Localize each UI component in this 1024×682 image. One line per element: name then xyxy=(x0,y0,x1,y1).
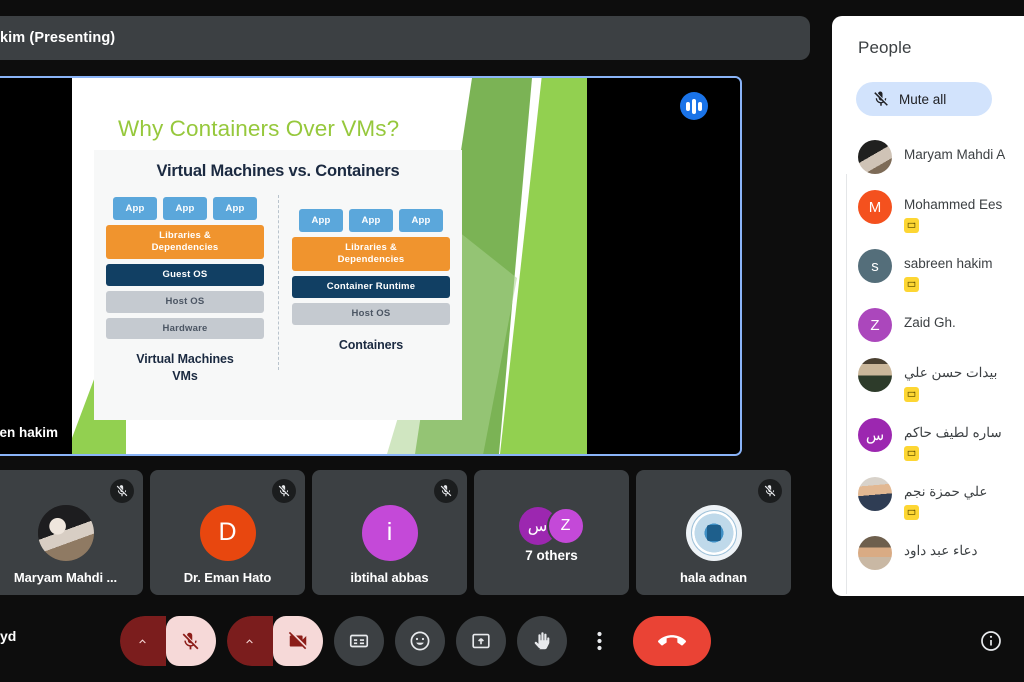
mic-off-button[interactable] xyxy=(166,616,216,666)
vm-column: App App App Libraries &Dependencies Gues… xyxy=(106,197,278,385)
container-column-label: Containers xyxy=(339,337,403,354)
container-app-row: App App App xyxy=(292,209,450,232)
vm-app-box: App xyxy=(163,197,207,220)
avatar xyxy=(686,505,742,561)
vm-app-row: App App App xyxy=(106,197,264,220)
avatar: س xyxy=(858,418,892,452)
avatar xyxy=(38,505,94,561)
list-item[interactable]: بيدات حسن علي xyxy=(832,350,1024,409)
mic-off-icon xyxy=(758,479,782,503)
list-item[interactable]: س ساره لطيف حاكم xyxy=(832,410,1024,469)
list-item[interactable]: دعاء عبد داود xyxy=(832,528,1024,578)
vm-host-os-bar: Host OS xyxy=(106,291,264,313)
mic-off-icon xyxy=(872,90,890,108)
others-tile[interactable]: س Z 7 others xyxy=(474,470,629,595)
vm-guest-os-bar: Guest OS xyxy=(106,264,264,286)
list-item[interactable]: s sabreen hakim xyxy=(832,241,1024,300)
diagram-title: Virtual Machines vs. Containers xyxy=(94,162,462,181)
avatar xyxy=(858,358,892,392)
list-item[interactable]: Maryam Mahdi A xyxy=(832,132,1024,182)
control-bar xyxy=(0,600,830,682)
vm-libraries-bar: Libraries &Dependencies xyxy=(106,225,264,259)
mic-control-group[interactable] xyxy=(120,616,216,666)
participant-name: ibtihal abbas xyxy=(312,570,467,585)
others-count-label: 7 others xyxy=(474,548,629,563)
shared-screen-stage[interactable]: Why Containers Over VMs? Virtual Machine… xyxy=(0,76,742,456)
info-button[interactable] xyxy=(974,624,1008,658)
participant-filmstrip: Maryam Mahdi ... D Dr. Eman Hato i ibtih… xyxy=(0,470,813,595)
participant-tile[interactable]: i ibtihal abbas xyxy=(312,470,467,595)
container-app-box: App xyxy=(399,209,443,232)
participant-name: علي حمزة نجم xyxy=(904,477,987,501)
container-host-os-bar: Host OS xyxy=(292,303,450,325)
participant-name: دعاء عبد داود xyxy=(904,536,978,560)
mic-options-chevron-icon[interactable] xyxy=(120,616,166,666)
captions-button[interactable] xyxy=(334,616,384,666)
raise-hand-button[interactable] xyxy=(517,616,567,666)
vm-label-line2: VMs xyxy=(136,368,234,385)
vm-label-line1: Virtual Machines xyxy=(136,351,234,368)
avatar xyxy=(858,140,892,174)
end-call-button[interactable] xyxy=(633,616,711,666)
avatar xyxy=(858,536,892,570)
container-column: App App App Libraries &Dependencies Cont… xyxy=(278,197,450,385)
mic-off-icon xyxy=(110,479,134,503)
presenting-label: kim (Presenting) xyxy=(0,30,115,46)
list-item[interactable]: M Mohammed Ees xyxy=(832,182,1024,241)
presenting-badge-icon xyxy=(904,387,919,402)
participant-name: ساره لطيف حاكم xyxy=(904,418,1002,442)
container-app-box: App xyxy=(349,209,393,232)
stage-background: Why Containers Over VMs? Virtual Machine… xyxy=(0,78,740,454)
participant-name: Mohammed Ees xyxy=(904,190,1002,214)
container-runtime-bar: Container Runtime xyxy=(292,276,450,298)
diagram-columns: App App App Libraries &Dependencies Gues… xyxy=(94,197,462,385)
camera-control-group[interactable] xyxy=(227,616,323,666)
avatar: Z xyxy=(858,308,892,342)
mute-all-label: Mute all xyxy=(899,92,946,107)
vm-column-label: Virtual Machines VMs xyxy=(136,351,234,385)
emoji-reactions-button[interactable] xyxy=(395,616,445,666)
speaking-audio-icon xyxy=(680,92,708,120)
vm-hardware-bar: Hardware xyxy=(106,318,264,340)
people-panel: People Mute all Maryam Mahdi A M Mohamme… xyxy=(832,16,1024,596)
slide-diagram: Virtual Machines vs. Containers App App … xyxy=(94,150,462,420)
avatar: M xyxy=(858,190,892,224)
diagram-divider xyxy=(278,195,279,370)
participant-name: بيدات حسن علي xyxy=(904,358,997,382)
presentation-slide: Why Containers Over VMs? Virtual Machine… xyxy=(72,78,587,454)
container-libraries-bar: Libraries &Dependencies xyxy=(292,237,450,271)
mute-all-button[interactable]: Mute all xyxy=(856,82,992,116)
presenting-badge-icon xyxy=(904,277,919,292)
presenting-banner: kim (Presenting) xyxy=(0,16,810,60)
container-app-box: App xyxy=(299,209,343,232)
participant-name: sabreen hakim xyxy=(904,249,993,273)
slide-title: Why Containers Over VMs? xyxy=(118,116,399,142)
camera-off-button[interactable] xyxy=(273,616,323,666)
mic-off-icon xyxy=(272,479,296,503)
participant-name: Maryam Mahdi ... xyxy=(0,570,143,585)
mic-off-icon xyxy=(434,479,458,503)
participant-name: hala adnan xyxy=(636,570,791,585)
participant-tile[interactable]: Maryam Mahdi ... xyxy=(0,470,143,595)
avatar: Z xyxy=(547,507,585,545)
presenting-badge-icon xyxy=(904,218,919,233)
avatar: s xyxy=(858,249,892,283)
present-screen-button[interactable] xyxy=(456,616,506,666)
stage-speaker-name: een hakim xyxy=(0,425,58,440)
presenting-badge-icon xyxy=(904,446,919,461)
participant-tile[interactable]: D Dr. Eman Hato xyxy=(150,470,305,595)
avatar: i xyxy=(362,505,418,561)
vm-app-box: App xyxy=(213,197,257,220)
list-item[interactable]: علي حمزة نجم xyxy=(832,469,1024,528)
vm-app-box: App xyxy=(113,197,157,220)
avatar-stack: س Z xyxy=(519,507,585,545)
participant-name: Dr. Eman Hato xyxy=(150,570,305,585)
presenting-badge-icon xyxy=(904,505,919,520)
avatar: D xyxy=(200,505,256,561)
participant-name: Zaid Gh. xyxy=(904,308,956,332)
avatar xyxy=(858,477,892,511)
participant-name: Maryam Mahdi A xyxy=(904,140,1005,164)
meet-window: kim (Presenting) Why Containers Over VMs… xyxy=(0,0,1024,682)
more-options-button[interactable] xyxy=(578,616,622,666)
people-panel-title: People xyxy=(832,16,1024,58)
camera-options-chevron-icon[interactable] xyxy=(227,616,273,666)
list-item[interactable]: Z Zaid Gh. xyxy=(832,300,1024,350)
participant-tile[interactable]: hala adnan xyxy=(636,470,791,595)
participant-list: Maryam Mahdi A M Mohammed Ees s sabreen … xyxy=(832,132,1024,578)
